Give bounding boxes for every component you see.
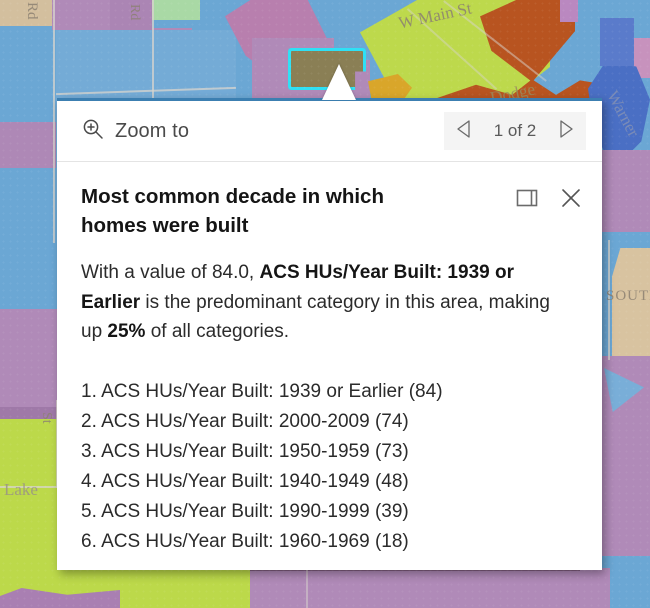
map-region-purple-bottom-right xyxy=(250,568,610,608)
map-road-vertical-5 xyxy=(306,568,308,608)
map-road-vertical-4 xyxy=(608,240,610,360)
list-item: 6. ACS HUs/Year Built: 1960-1969 (18) xyxy=(81,527,574,557)
map-region-purple-midleft xyxy=(0,122,56,168)
popup-title-row: Most common decade in which homes were b… xyxy=(57,162,602,240)
map-region-purple-bottomleft-strip xyxy=(0,407,58,419)
zoom-to-button[interactable]: Zoom to xyxy=(81,117,189,146)
map-region-royalblue-warner2 xyxy=(600,18,634,66)
popup-pointer-triangle xyxy=(322,64,356,100)
map-region-purple-leftmid xyxy=(0,309,58,417)
screenshot-root: W Main St Warner SOUTH Lake Rd Rd Dodge … xyxy=(0,0,650,608)
map-region-blue-left3 xyxy=(0,168,56,243)
summary-suffix: of all categories. xyxy=(145,321,289,342)
triangle-right-icon[interactable] xyxy=(558,119,574,144)
map-road-vertical-2 xyxy=(152,0,154,110)
zoom-to-label: Zoom to xyxy=(115,120,189,143)
pagination-label: 1 of 2 xyxy=(488,121,542,141)
map-road-horizontal-2 xyxy=(0,486,58,488)
list-item: 5. ACS HUs/Year Built: 1990-1999 (39) xyxy=(81,497,574,527)
popup-title-actions xyxy=(516,182,582,214)
page-title: Most common decade in which homes were b… xyxy=(81,182,441,240)
triangle-left-icon[interactable] xyxy=(456,119,472,144)
summary-text: With a value of 84.0, ACS HUs/Year Built… xyxy=(81,258,574,346)
map-region-tan-topleft xyxy=(0,0,52,26)
map-region-green-top xyxy=(152,0,200,20)
summary-percent: 25% xyxy=(107,321,145,342)
dock-panel-icon[interactable] xyxy=(516,187,538,214)
close-icon[interactable] xyxy=(560,187,582,214)
summary-prefix: With a value of 84.0, xyxy=(81,262,260,283)
map-region-blue-left1 xyxy=(0,26,52,121)
list-item: 2. ACS HUs/Year Built: 2000-2009 (74) xyxy=(81,407,574,437)
popup-header: Zoom to 1 of 2 xyxy=(57,101,602,162)
feature-popup: Zoom to 1 of 2 Most common decade in whi… xyxy=(57,98,602,570)
popup-body: With a value of 84.0, ACS HUs/Year Built… xyxy=(57,240,602,556)
map-region-tan-right xyxy=(612,248,650,358)
magnifier-plus-icon xyxy=(81,117,105,146)
map-region-blue-left-mid xyxy=(0,243,58,309)
popup-pagination: 1 of 2 xyxy=(444,112,586,150)
map-region-yellowgreen-ext xyxy=(400,10,460,40)
ranked-category-list: 1. ACS HUs/Year Built: 1939 or Earlier (… xyxy=(81,377,574,557)
map-region-purple-topb xyxy=(110,0,152,30)
map-road-vertical-1 xyxy=(53,0,55,243)
list-item: 4. ACS HUs/Year Built: 1940-1949 (48) xyxy=(81,467,574,497)
map-region-yellowgreen-bottomleft xyxy=(0,417,58,577)
list-item: 3. ACS HUs/Year Built: 1950-1959 (73) xyxy=(81,437,574,467)
list-item: 1. ACS HUs/Year Built: 1939 or Earlier (… xyxy=(81,377,574,407)
